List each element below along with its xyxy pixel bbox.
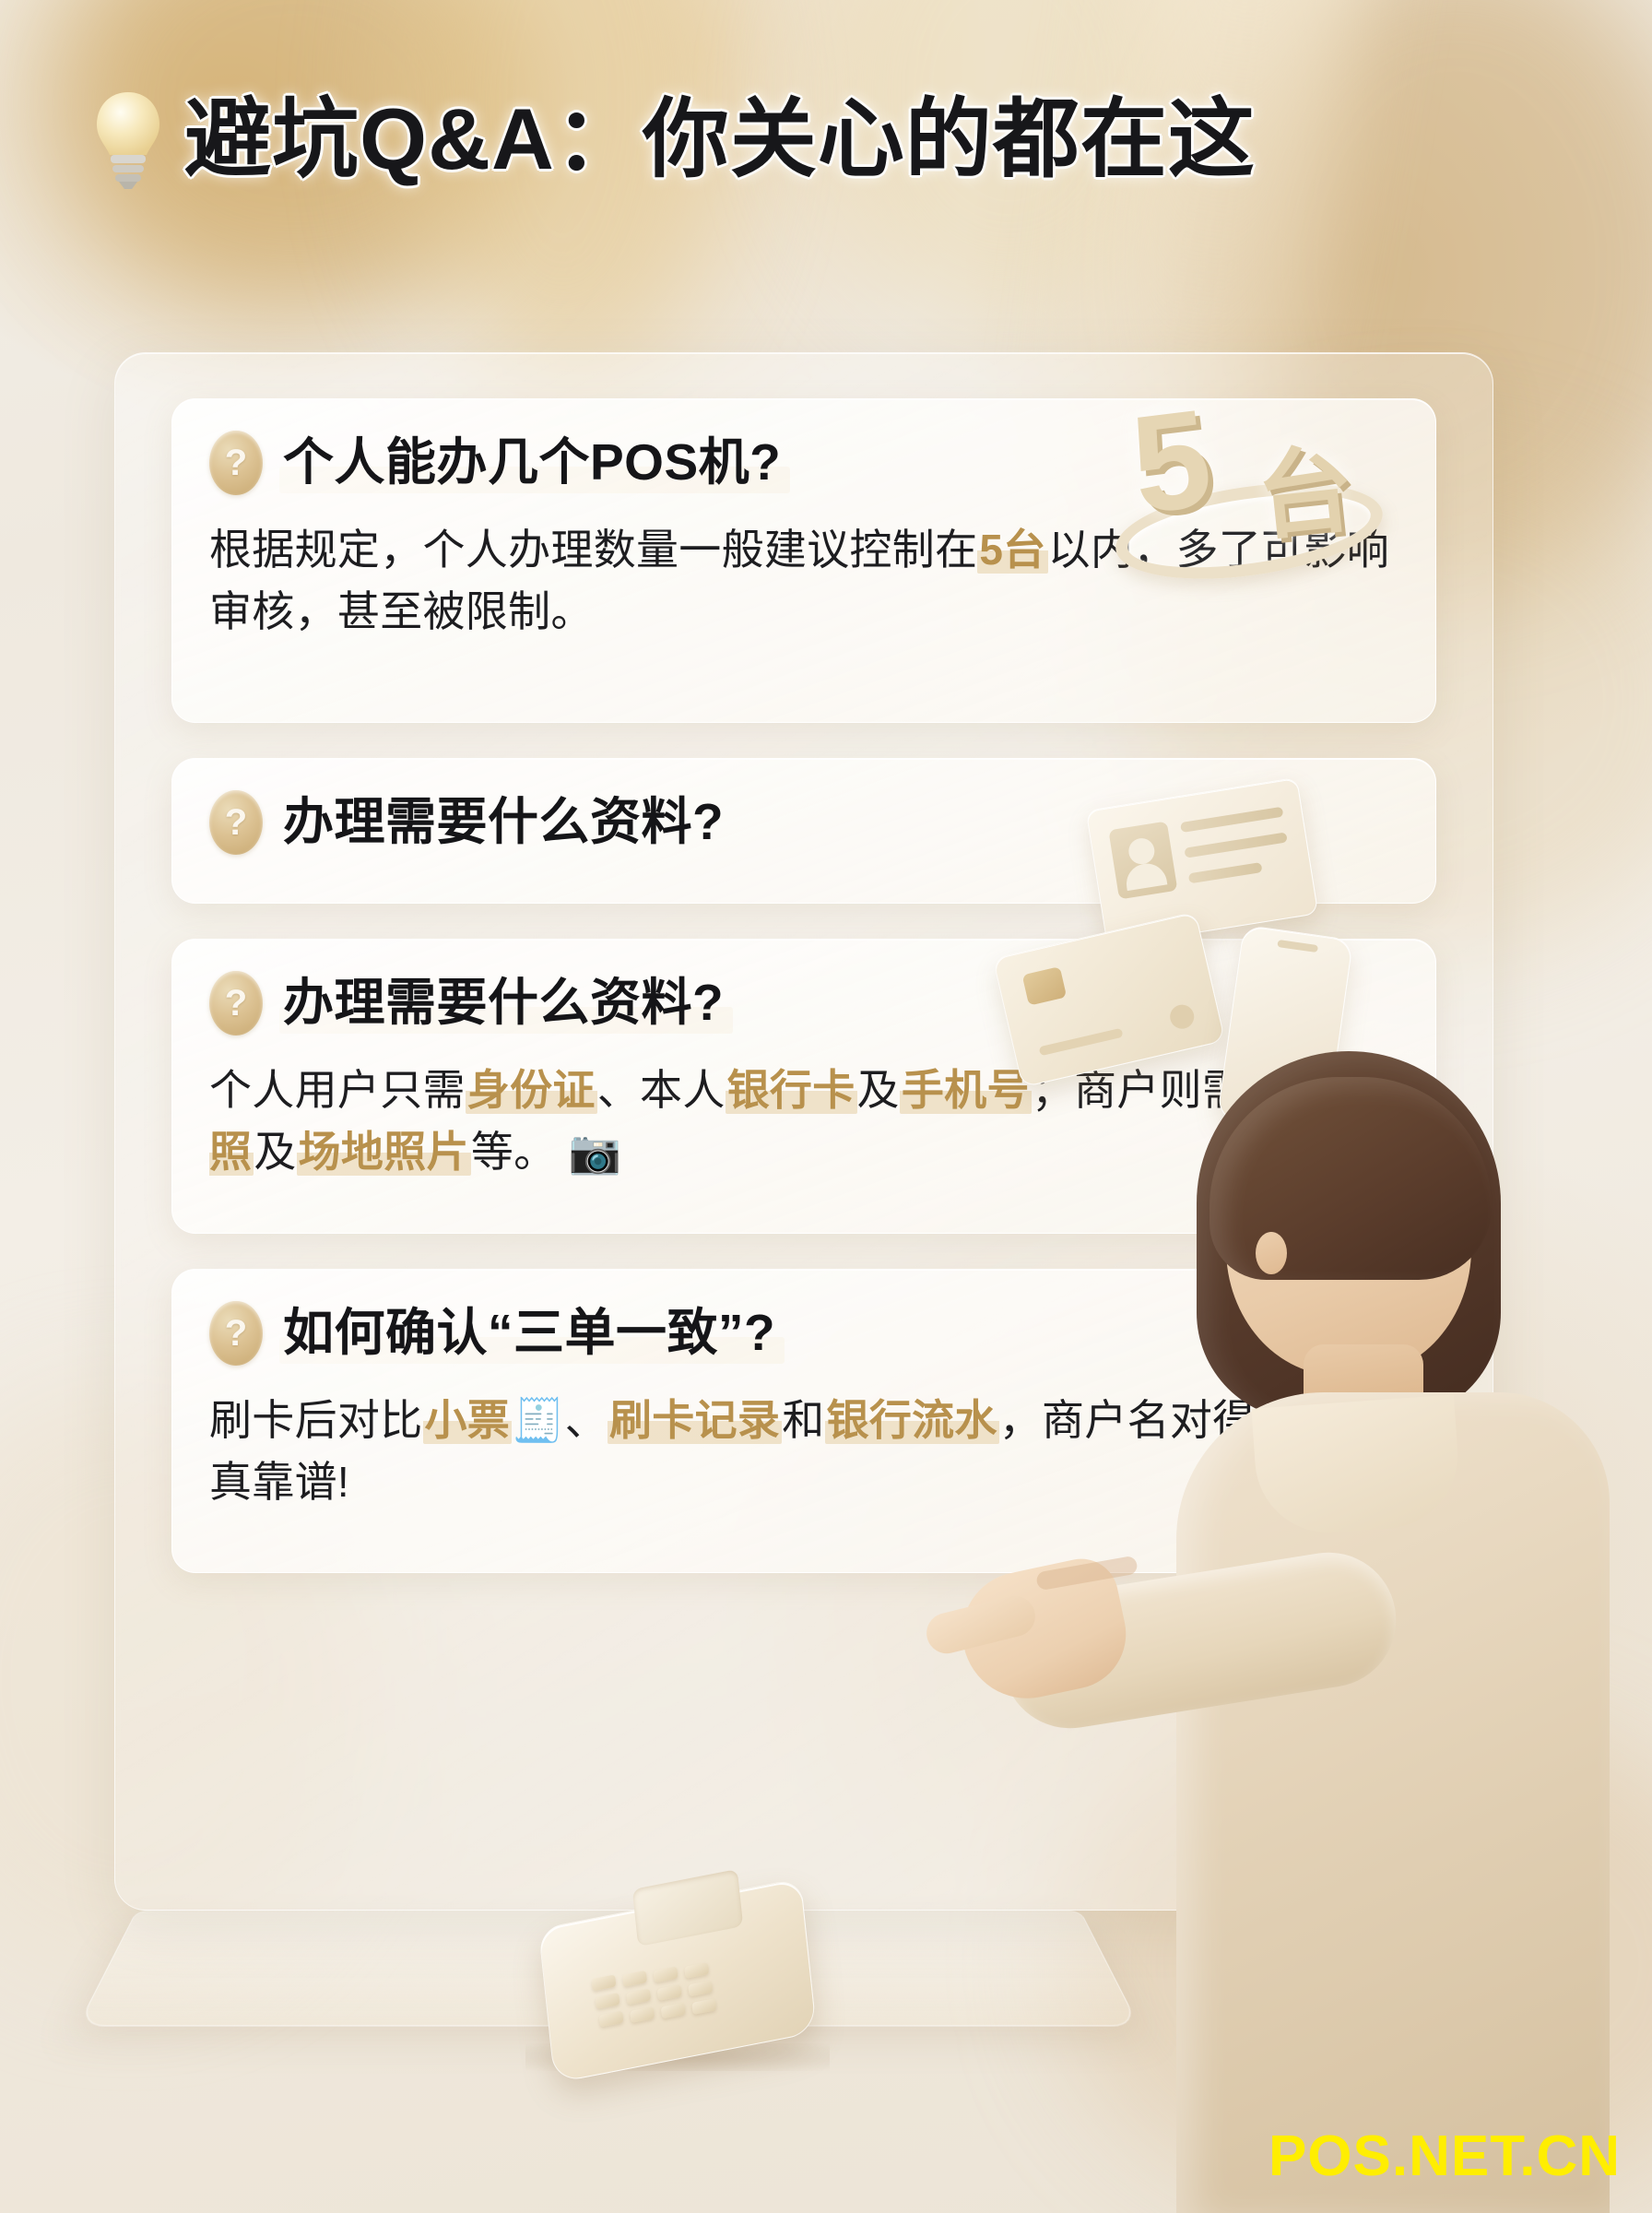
background-blob	[396, 0, 728, 387]
question-mark-glyph: ?	[225, 804, 247, 841]
answer-keyword: 身份证	[466, 1066, 597, 1114]
site-watermark: POS.NET.CN	[1268, 2124, 1621, 2189]
question-mark-glyph: ?	[225, 985, 247, 1022]
answer-fragment: 、本人	[597, 1066, 726, 1114]
lightbulb-icon	[88, 89, 168, 190]
question-text-wrap: 办理需要什么资料?	[283, 794, 724, 851]
answer-fragment: 等。 📷	[471, 1128, 621, 1176]
pos-shadow	[525, 2043, 830, 2071]
question-row: ? 办理需要什么资料?	[209, 971, 1395, 1035]
question-mark-icon: ?	[209, 1301, 263, 1366]
answer-fragment: 及	[857, 1066, 900, 1114]
question-text-wrap: 办理需要什么资料?	[283, 975, 724, 1032]
answer-keyword: 小票	[423, 1396, 513, 1444]
answer-fragment: 根据规定，个人办理数量一般建议控制在	[209, 526, 977, 574]
answer-keyword: 场地照片	[297, 1128, 471, 1176]
question-mark-icon: ?	[209, 971, 263, 1035]
character-ear	[1256, 1232, 1287, 1274]
question-mark-icon: ?	[209, 431, 263, 495]
answer-fragment: 和	[782, 1396, 824, 1444]
qa-card[interactable]: ? 个人能办几个POS机? 根据规定，个人办理数量一般建议控制在5台以内，多了可…	[171, 398, 1436, 723]
infographic-poster: 避坑Q&A：你关心的都在这 ? 个人能办几个POS机? 根据规定，个人办理数量一…	[0, 0, 1652, 2213]
question-text-wrap: 个人能办几个POS机?	[283, 434, 781, 491]
question-text: 个人能办几个POS机?	[283, 433, 781, 491]
question-text-wrap: 如何确认“三单一致”?	[283, 1305, 775, 1362]
answer-fragment: 及	[254, 1128, 296, 1176]
question-text: 办理需要什么资料?	[283, 793, 724, 850]
answer-text: 根据规定，个人办理数量一般建议控制在5台以内，多了可影响审核，甚至被限制。	[209, 519, 1395, 643]
question-mark-glyph: ?	[225, 1315, 247, 1352]
answer-fragment: 🧾、	[512, 1396, 608, 1444]
3d-woman-character	[979, 1051, 1652, 2213]
answer-keyword: 5台	[977, 526, 1047, 574]
answer-fragment: 个人用户只需	[209, 1066, 466, 1114]
qa-card[interactable]: ? 办理需要什么资料?	[171, 758, 1436, 904]
answer-fragment: 刷卡后对比	[209, 1396, 423, 1444]
answer-keyword: 银行流水	[825, 1396, 999, 1444]
answer-keyword: 银行卡	[726, 1066, 857, 1114]
question-mark-icon: ?	[209, 790, 263, 855]
poster-header: 避坑Q&A：你关心的都在这	[88, 89, 1256, 190]
answer-keyword: 刷卡记录	[608, 1396, 782, 1444]
question-row: ? 个人能办几个POS机?	[209, 431, 1395, 495]
question-row: ? 办理需要什么资料?	[209, 790, 1395, 855]
question-text: 如何确认“三单一致”?	[283, 1304, 775, 1361]
question-text: 办理需要什么资料?	[283, 974, 724, 1031]
question-mark-glyph: ?	[225, 444, 247, 481]
page-title: 避坑Q&A：你关心的都在这	[184, 94, 1256, 185]
